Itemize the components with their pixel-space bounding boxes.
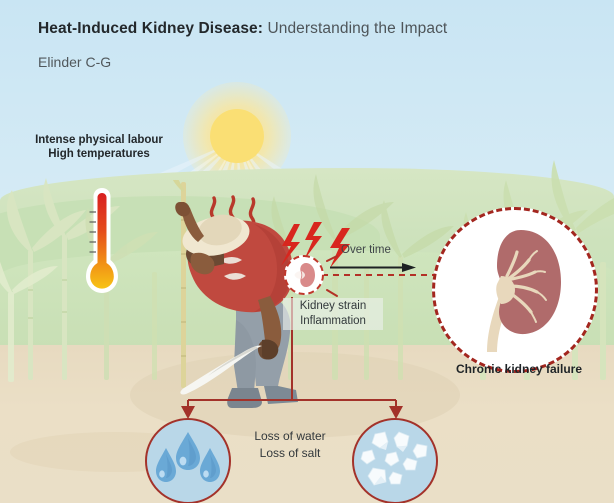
over-time-label: Over time xyxy=(341,244,391,256)
infographic-figure: Heat-Induced Kidney Disease: Understandi… xyxy=(0,0,614,503)
arrow-right-icon xyxy=(330,263,416,272)
kidney-strain-line1: Kidney strain xyxy=(285,299,381,314)
kidney-strain-label: Kidney strain Inflammation xyxy=(283,298,383,330)
loss-label-line2: Loss of salt xyxy=(230,445,350,462)
water-droplet-icon xyxy=(152,428,224,490)
loss-label-line1: Loss of water xyxy=(230,428,350,445)
salt-crystal-icon xyxy=(359,428,431,490)
labour-label-line2: High temperatures xyxy=(24,147,174,161)
kidney-icon xyxy=(443,218,587,362)
author-name: Elinder C-G xyxy=(38,54,111,70)
labour-label: Intense physical labour High temperature… xyxy=(24,133,174,161)
thermometer-icon xyxy=(85,186,119,302)
kidney-badge-icon xyxy=(292,262,316,288)
chronic-kidney-failure-label: Chronic kidney failure xyxy=(439,362,599,376)
labour-label-line1: Intense physical labour xyxy=(24,133,174,147)
page-title: Heat-Induced Kidney Disease: Understandi… xyxy=(38,20,447,38)
title-bold: Heat-Induced Kidney Disease: xyxy=(38,20,263,37)
title-subtitle: Understanding the Impact xyxy=(263,20,447,37)
kidney-strain-line2: Inflammation xyxy=(285,314,381,329)
loss-label: Loss of water Loss of salt xyxy=(230,428,350,462)
